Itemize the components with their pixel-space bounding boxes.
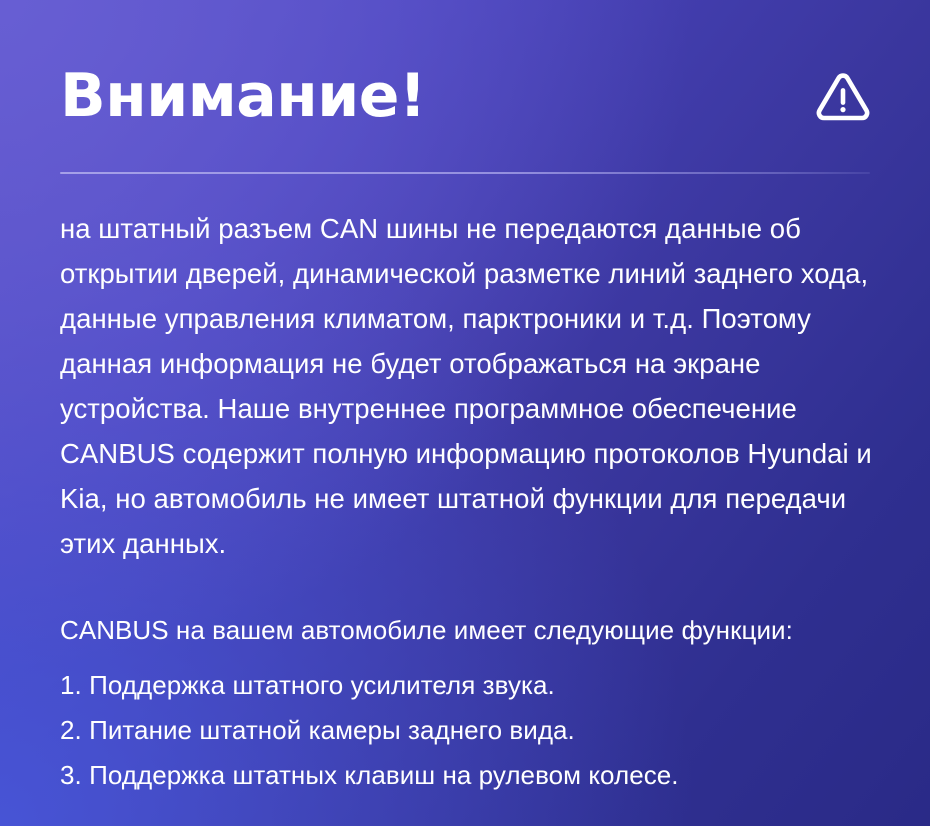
list-item-label: Питание штатной камеры заднего вида. <box>89 715 575 745</box>
header-divider <box>60 172 870 174</box>
intro-paragraph: на штатный разъем CAN шины не передаются… <box>60 206 878 566</box>
list-item-number: 1. <box>60 670 82 700</box>
page-title: Внимание! <box>60 66 426 126</box>
list-item-label: Поддержка штатных клавиш на рулевом коле… <box>89 760 679 790</box>
list-item-label: Поддержка штатного усилителя звука. <box>89 670 555 700</box>
warning-triangle-icon <box>816 69 870 123</box>
list-item: 3. Поддержка штатных клавиш на рулевом к… <box>60 753 878 798</box>
features-list: 1. Поддержка штатного усилителя звука. 2… <box>60 663 878 798</box>
list-item: 1. Поддержка штатного усилителя звука. <box>60 663 878 708</box>
warning-banner: Внимание! на штатный разъем CAN шины не … <box>0 0 930 826</box>
list-item-number: 2. <box>60 715 82 745</box>
banner-header: Внимание! <box>60 56 870 136</box>
list-item-number: 3. <box>60 760 82 790</box>
features-heading: CANBUS на вашем автомобиле имеет следующ… <box>60 613 878 647</box>
list-item: 2. Питание штатной камеры заднего вида. <box>60 708 878 753</box>
banner-content: на штатный разъем CAN шины не передаются… <box>60 206 878 798</box>
